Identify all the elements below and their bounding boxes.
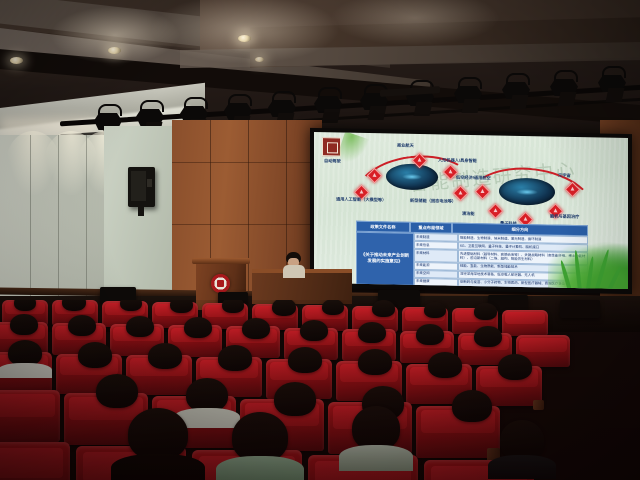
- audience-member: [78, 342, 112, 368]
- audience-member: [300, 320, 328, 341]
- leaf-decoration-icon: [548, 233, 628, 289]
- auditorium-photo: 智能制造研究中心 自动驾驶 商业航天: [0, 0, 640, 480]
- diagram-label: 通用人工智能（大模型等）: [336, 196, 386, 203]
- diagram-label: 低空经济/通用航空: [456, 175, 491, 181]
- audience-member: [10, 314, 38, 335]
- audience-member: [14, 300, 36, 311]
- audience-member: [272, 300, 296, 316]
- ceiling-downlight: [255, 57, 264, 62]
- audience-member: [500, 420, 544, 460]
- audience-member: [96, 374, 138, 408]
- university-seal-emblem: [211, 274, 230, 293]
- table-cell-field: 未来材料: [414, 249, 458, 262]
- audience-member: [8, 340, 42, 366]
- wall-mounted-loudspeaker: [128, 167, 155, 207]
- audience-member: [186, 378, 228, 412]
- audience-member: [424, 302, 446, 318]
- audience-member: [358, 322, 386, 343]
- table-merged-cell: 《关于推动未来产业创新发展的实施意见》: [356, 232, 414, 286]
- audience-member: [428, 352, 462, 378]
- ceiling-downlight: [238, 35, 251, 42]
- audience-member: [474, 326, 502, 347]
- diagram-label: 元宇宙: [558, 173, 571, 179]
- list-item[interactable]: [0, 390, 60, 442]
- ceiling-downlight: [108, 47, 121, 54]
- audience-member: [170, 300, 193, 313]
- audience-member: [62, 300, 86, 311]
- diagram-label: 清洁能: [462, 211, 475, 217]
- diagram-label: 商业航天: [397, 143, 414, 149]
- projection-screen: 智能制造研究中心 自动驾驶 商业航天: [310, 128, 632, 294]
- audience-member: [242, 318, 270, 339]
- audience-member: [352, 406, 400, 450]
- audience-member: [68, 315, 96, 336]
- audience-member: [148, 343, 182, 369]
- audience-member: [372, 300, 395, 317]
- left-wall-panels: [0, 135, 108, 305]
- audience-member: [474, 303, 497, 320]
- diagram-label: 人形机器人/具身智能: [438, 157, 477, 163]
- audience-member: [288, 347, 322, 373]
- list-item[interactable]: [502, 310, 548, 336]
- diagram-label: 新型储能（固态电池等）: [410, 198, 456, 205]
- audience-member: [222, 300, 244, 313]
- audience-member: [184, 317, 212, 338]
- audience-member: [452, 390, 492, 422]
- audience-member: [128, 408, 188, 460]
- slide-roadmap-diagram: 自动驾驶 商业航天 人形机器人/具身智能 低空经济/通用航空 元宇宙 脑机与基因…: [314, 138, 628, 226]
- audience-member: [218, 345, 252, 371]
- audience-member: [232, 412, 288, 462]
- diagram-label: 自动驾驶: [324, 158, 341, 164]
- audience-member: [498, 354, 532, 380]
- table-header-cell: 重点布局领域: [410, 222, 452, 234]
- audience-member: [358, 349, 392, 375]
- list-item[interactable]: [0, 442, 70, 480]
- audience-member: [120, 300, 142, 311]
- audience-seating: [0, 300, 640, 480]
- table-cell-field: 未来健康: [414, 278, 458, 287]
- audience-member: [416, 324, 444, 345]
- moderator-at-head-table: [283, 252, 305, 276]
- audience-member: [126, 316, 154, 337]
- audience-member: [322, 300, 344, 315]
- diagram-label: 脑机与基因治疗: [550, 214, 579, 220]
- ceiling-downlight: [10, 57, 23, 64]
- audience-member: [274, 382, 316, 416]
